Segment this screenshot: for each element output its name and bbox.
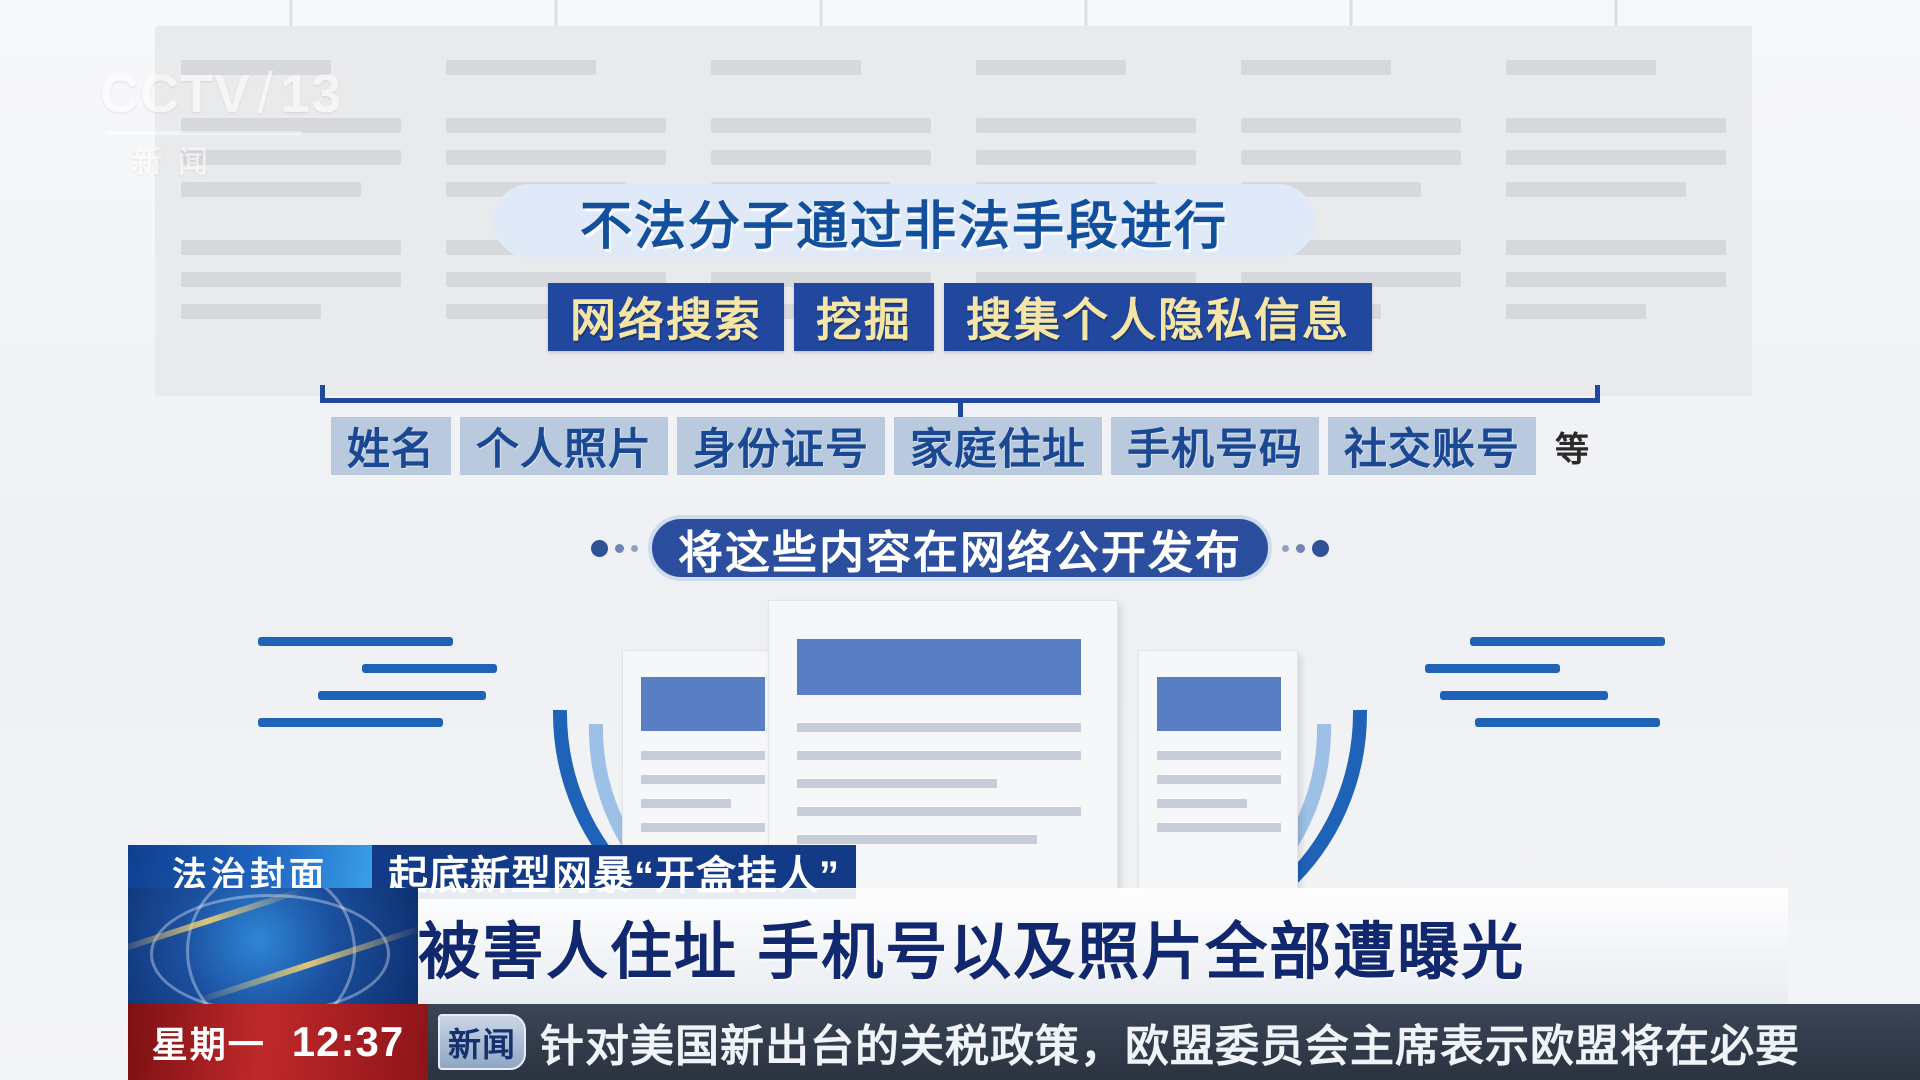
news-ticker: 星期一 12:37 新闻 针对美国新出台的关税政策，欧盟委员会主席表示欧盟将在必… bbox=[128, 1004, 1920, 1080]
data-tag-label: 社交账号 bbox=[1344, 415, 1520, 477]
graphic-headline-text: 不法分子通过非法手段进行 bbox=[580, 184, 1228, 259]
data-tag-row: 姓名 个人照片 身份证号 家庭住址 手机号码 社交账号 等 bbox=[0, 417, 1920, 475]
data-tag-label: 家庭住址 bbox=[910, 415, 1086, 477]
method-box-label: 挖掘 bbox=[816, 284, 912, 350]
decor-dot-icon bbox=[615, 544, 624, 553]
data-tag-label: 个人照片 bbox=[476, 415, 652, 477]
data-tag: 姓名 bbox=[331, 417, 451, 475]
speed-line bbox=[258, 718, 443, 727]
card-hanger bbox=[820, 0, 823, 26]
decor-dot-icon bbox=[631, 545, 638, 552]
decor-dot-icon bbox=[1296, 544, 1305, 553]
decor-dots-left bbox=[591, 540, 638, 557]
speed-line bbox=[362, 664, 497, 673]
broadcast-screen: CCTV / 13 新闻 不法分子通过非法手段进行 网络搜索 挖掘 搜集个人隐私… bbox=[0, 0, 1920, 1080]
speed-line bbox=[1425, 664, 1560, 673]
decor-dot-icon bbox=[1312, 540, 1329, 557]
ticker-clock: 12:37 bbox=[292, 1018, 404, 1066]
speed-line bbox=[1440, 691, 1608, 700]
graphic-headline-pill: 不法分子通过非法手段进行 bbox=[493, 184, 1315, 258]
bracket-stem-left bbox=[320, 385, 325, 400]
decor-dots-right bbox=[1282, 540, 1329, 557]
method-box-label: 搜集个人隐私信息 bbox=[966, 284, 1350, 350]
method-box: 挖掘 bbox=[794, 283, 934, 351]
data-tag-suffix: 等 bbox=[1555, 422, 1589, 471]
data-tag-label: 身份证号 bbox=[693, 415, 869, 477]
chyron-main-headline-text: 被害人住址 手机号以及照片全部遭曝光 bbox=[418, 901, 1525, 991]
card-hanger bbox=[555, 0, 558, 26]
method-box-label: 网络搜索 bbox=[570, 284, 762, 350]
side-document-right bbox=[1138, 650, 1298, 890]
data-tag: 社交账号 bbox=[1328, 417, 1536, 475]
card-hanger bbox=[1085, 0, 1088, 26]
globe-logo bbox=[128, 888, 418, 1004]
bracket-stem-right bbox=[1595, 385, 1600, 400]
data-tag: 身份证号 bbox=[677, 417, 885, 475]
ticker-news-badge: 新闻 bbox=[438, 1014, 526, 1070]
method-box: 搜集个人隐私信息 bbox=[944, 283, 1372, 351]
data-tag: 个人照片 bbox=[460, 417, 668, 475]
publish-statement-pill: 将这些内容在网络公开发布 bbox=[648, 515, 1272, 581]
card-hanger bbox=[1615, 0, 1618, 26]
data-tag-label: 手机号码 bbox=[1127, 415, 1303, 477]
cctv13-watermark: CCTV / 13 新闻 bbox=[100, 60, 342, 181]
publish-statement-text: 将这些内容在网络公开发布 bbox=[678, 516, 1242, 581]
decor-dot-icon bbox=[591, 540, 608, 557]
speed-line bbox=[318, 691, 486, 700]
data-tag: 手机号码 bbox=[1111, 417, 1319, 475]
chyron-main-headline: 被害人住址 手机号以及照片全部遭曝光 bbox=[418, 900, 1525, 992]
decor-dot-icon bbox=[1282, 545, 1289, 552]
card-hanger bbox=[1350, 0, 1353, 26]
ticker-body: 新闻 针对美国新出台的关税政策，欧盟委员会主席表示欧盟将在必要 bbox=[428, 1004, 1920, 1080]
ticker-time-block: 星期一 12:37 bbox=[128, 1004, 428, 1080]
method-box-row: 网络搜索 挖掘 搜集个人隐私信息 bbox=[0, 283, 1920, 351]
speed-line bbox=[258, 637, 453, 646]
watermark-number: 13 bbox=[280, 63, 342, 125]
card-hanger bbox=[290, 0, 293, 26]
publish-statement-row: 将这些内容在网络公开发布 bbox=[0, 515, 1920, 581]
speed-line bbox=[1470, 637, 1665, 646]
watermark-underline bbox=[106, 131, 302, 135]
speed-line bbox=[1475, 718, 1660, 727]
watermark-logo-row: CCTV / 13 bbox=[100, 60, 342, 127]
watermark-channel: CCTV bbox=[100, 63, 251, 125]
ticker-weekday: 星期一 bbox=[152, 1016, 266, 1068]
method-box: 网络搜索 bbox=[548, 283, 784, 351]
data-tag: 家庭住址 bbox=[894, 417, 1102, 475]
watermark-subtitle: 新闻 bbox=[132, 137, 342, 181]
data-tag-label: 姓名 bbox=[347, 415, 435, 477]
watermark-slash: / bbox=[257, 60, 274, 127]
ticker-text: 针对美国新出台的关税政策，欧盟委员会主席表示欧盟将在必要 bbox=[540, 1010, 1800, 1074]
